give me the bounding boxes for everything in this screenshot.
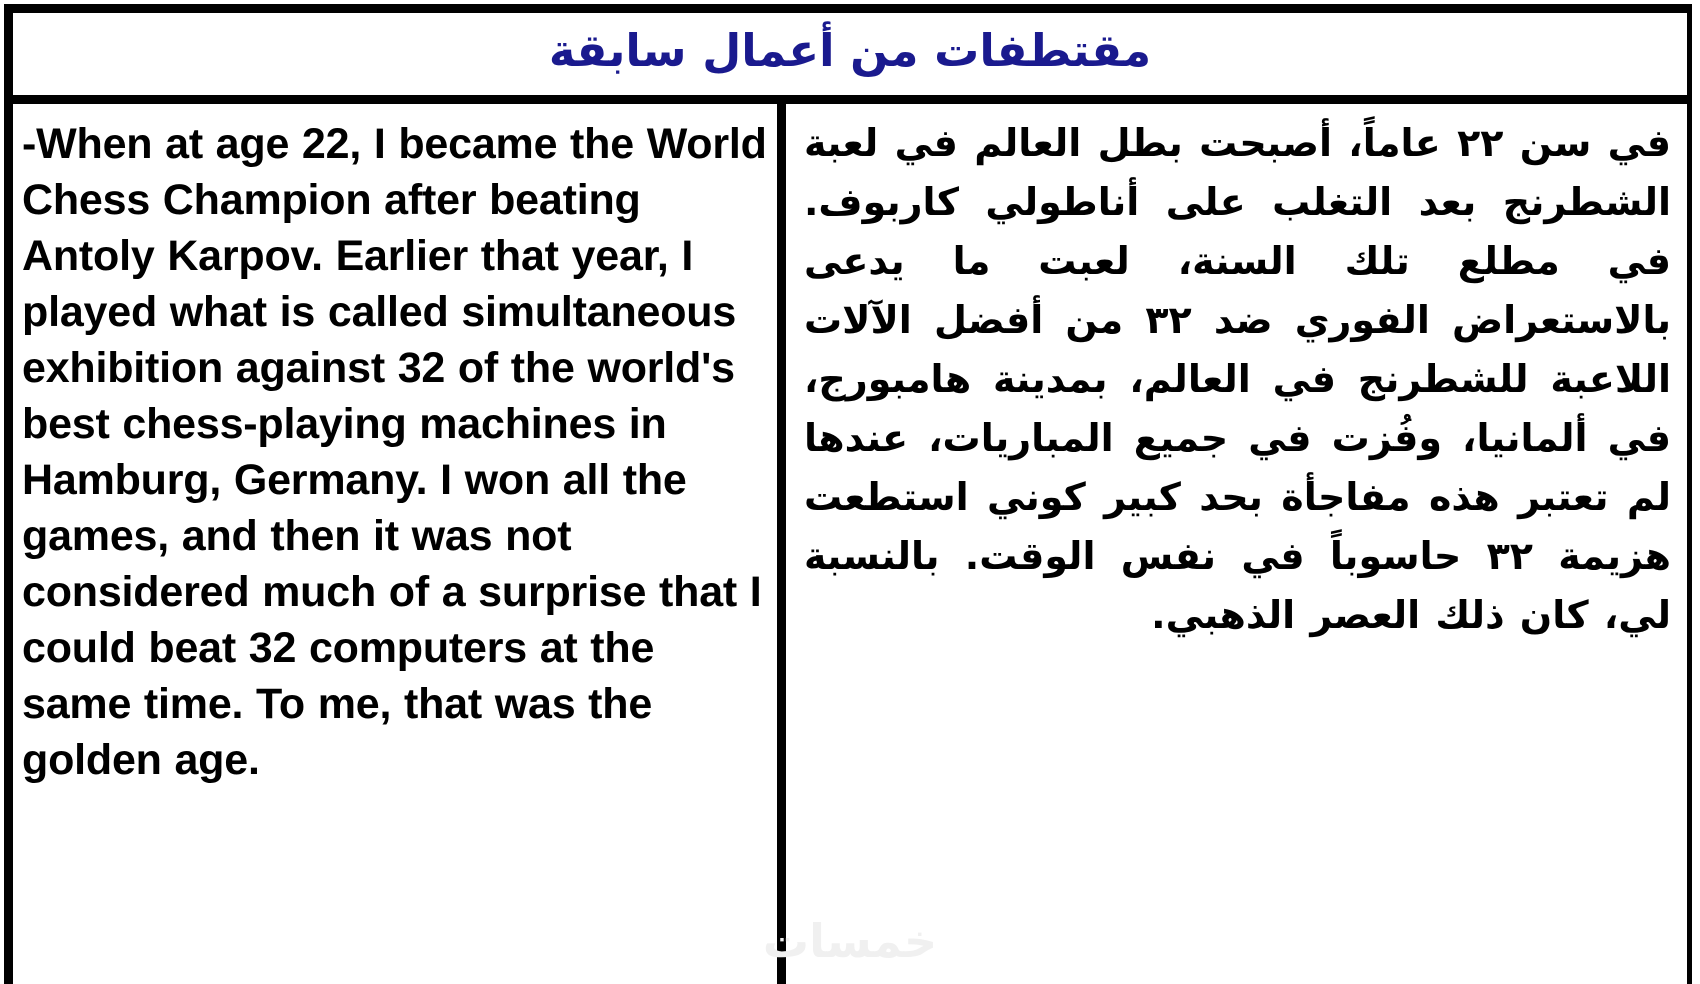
english-text-cell: -When at age 22, I became the World Ches… — [13, 104, 777, 984]
english-excerpt-paragraph: -When at age 22, I became the World Ches… — [22, 116, 767, 788]
table-body-row: -When at age 22, I became the World Ches… — [13, 104, 1687, 984]
column-divider — [777, 104, 786, 984]
excerpts-table: مقتطفات من أعمال سابقة -When at age 22, … — [4, 4, 1692, 984]
page-title: مقتطفات من أعمال سابقة — [549, 27, 1151, 74]
arabic-text-cell: في سن ٢٢ عاماً، أصبحت بطل العالم في لعبة… — [786, 104, 1687, 984]
arabic-excerpt-paragraph: في سن ٢٢ عاماً، أصبحت بطل العالم في لعبة… — [804, 114, 1671, 645]
table-header-row: مقتطفات من أعمال سابقة — [13, 13, 1687, 104]
